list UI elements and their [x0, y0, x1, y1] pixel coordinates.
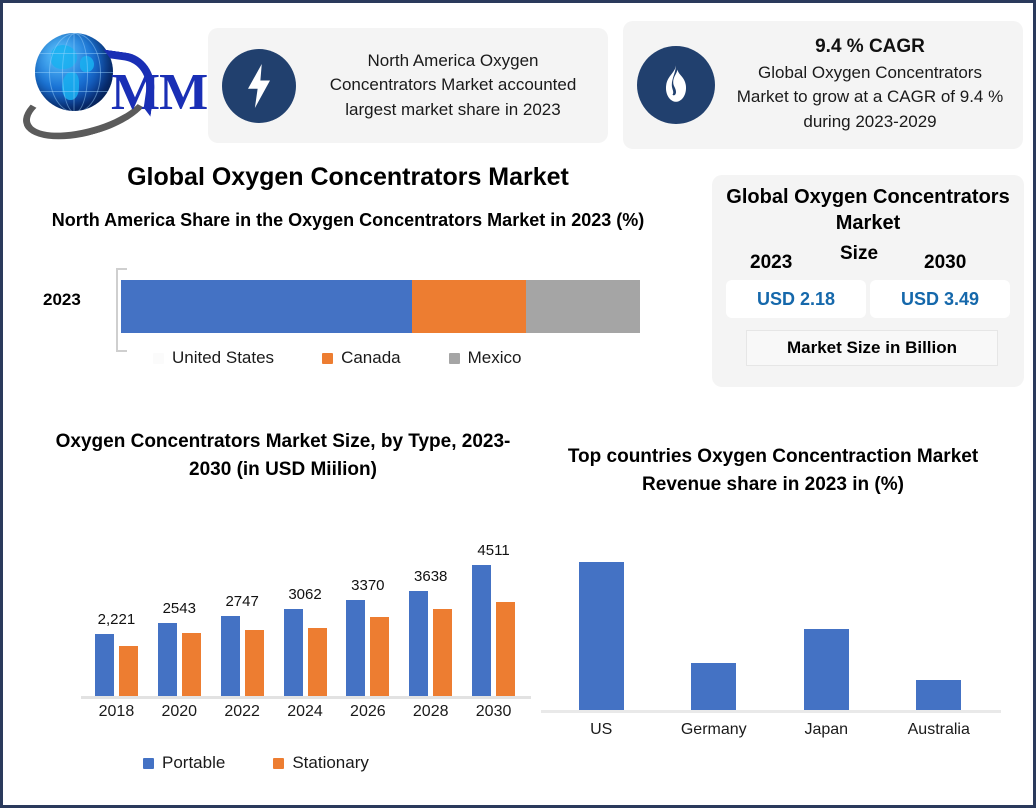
bar-portable — [409, 591, 428, 698]
bar-stationary — [308, 628, 327, 698]
bar-group: 2,221 — [88, 634, 144, 698]
bar-stationary — [182, 633, 201, 698]
bar-germany — [691, 663, 736, 710]
stacked-segment-united-states — [121, 280, 412, 333]
bar-data-label: 2,221 — [88, 611, 144, 628]
stacked-bar — [121, 280, 640, 333]
legend-swatch-portable — [143, 758, 154, 769]
chart-title: Top countries Oxygen Concentraction Mark… — [553, 443, 993, 498]
bar-stationary — [433, 609, 452, 698]
x-axis-tick: 2030 — [459, 703, 529, 721]
legend-swatch-mexico — [449, 353, 460, 364]
x-axis-tick: 2018 — [81, 703, 151, 721]
legend-item-canada: Canada — [322, 348, 401, 368]
header-card-text: Global Oxygen Concentrators Market to gr… — [731, 61, 1009, 133]
chart-legend: United States Canada Mexico — [153, 348, 653, 368]
stacked-segment-mexico — [526, 280, 640, 333]
header-card-north-america: North America Oxygen Concentrators Marke… — [208, 28, 608, 143]
header-card-text: North America Oxygen Concentrators Marke… — [312, 49, 594, 121]
flame-icon — [637, 46, 715, 124]
market-size-heading: Global Oxygen Concentrators Market — [722, 185, 1014, 236]
infographic-page: MMR North America Oxygen Concentrators M… — [0, 0, 1036, 808]
legend-label: Canada — [341, 348, 401, 368]
bar-stationary — [119, 646, 138, 698]
bar-portable — [221, 616, 240, 698]
market-size-word: Size — [840, 243, 878, 265]
x-axis-tick: Australia — [879, 721, 999, 739]
bar-group — [884, 680, 994, 710]
x-axis-tick: 2026 — [333, 703, 403, 721]
bar-australia — [916, 680, 961, 710]
mmr-logo: MMR — [13, 25, 208, 130]
bar-data-label: 3638 — [403, 568, 459, 585]
bar-data-label: 2747 — [214, 593, 270, 610]
legend-item-mexico: Mexico — [449, 348, 522, 368]
bar-group — [771, 629, 881, 710]
legend-item-united-states: United States — [153, 348, 274, 368]
stacked-segment-canada — [412, 280, 526, 333]
bar-portable — [284, 609, 303, 698]
header: MMR North America Oxygen Concentrators M… — [3, 3, 1033, 151]
header-card-cagr: 9.4 % CAGR Global Oxygen Concentrators M… — [623, 21, 1023, 149]
legend-swatch-canada — [322, 353, 333, 364]
bar-group: 2543 — [151, 623, 207, 698]
legend-label: Portable — [162, 753, 225, 773]
legend-swatch-stationary — [273, 758, 284, 769]
north-america-share-chart: North America Share in the Oxygen Concen… — [3, 208, 693, 383]
market-size-unit: Market Size in Billion — [746, 330, 998, 366]
x-axis-tick: 2024 — [270, 703, 340, 721]
bar-portable — [95, 634, 114, 698]
market-size-value-2030: USD 3.49 — [870, 280, 1010, 318]
bar-data-label: 4511 — [466, 542, 522, 559]
bar-portable — [158, 623, 177, 698]
bar-stationary — [245, 630, 264, 698]
x-axis-tick: 2020 — [144, 703, 214, 721]
chart-title: Oxygen Concentrators Market Size, by Typ… — [53, 428, 513, 483]
cagr-value: 9.4 % CAGR — [731, 36, 1009, 58]
bar-stationary — [496, 602, 515, 698]
market-size-year-2030: 2030 — [924, 252, 966, 274]
legend-label: Mexico — [468, 348, 522, 368]
top-countries-revenue-chart: Top countries Oxygen Concentraction Mark… — [523, 443, 1023, 763]
bar-data-label: 2543 — [151, 600, 207, 617]
plot-area — [545, 548, 995, 710]
market-size-value-2023: USD 2.18 — [726, 280, 866, 318]
x-axis-tick: 2022 — [207, 703, 277, 721]
header-card-body: 9.4 % CAGR Global Oxygen Concentrators M… — [715, 36, 1023, 133]
bar-portable — [472, 565, 491, 698]
header-card-body: North America Oxygen Concentrators Marke… — [296, 49, 608, 121]
chart-legend: Portable Stationary — [143, 753, 417, 773]
legend-swatch-united-states — [153, 353, 164, 364]
lightning-bolt-icon — [222, 49, 296, 123]
bar-data-label: 3062 — [277, 586, 333, 603]
bar-data-label: 3370 — [340, 577, 396, 594]
bar-group: 2747 — [214, 616, 270, 698]
bar-group: 3638 — [403, 591, 459, 698]
market-size-card: Global Oxygen Concentrators Market 2023 … — [712, 175, 1024, 387]
legend-item-portable: Portable — [143, 753, 225, 773]
legend-label: Stationary — [292, 753, 369, 773]
chart-title: North America Share in the Oxygen Concen… — [48, 208, 648, 232]
bar-japan — [804, 629, 849, 710]
x-axis-line — [541, 710, 1001, 713]
bar-group — [546, 562, 656, 711]
x-axis-line — [81, 696, 531, 699]
market-size-year-2023: 2023 — [750, 252, 792, 274]
legend-label: United States — [172, 348, 274, 368]
bar-group: 4511 — [466, 565, 522, 698]
plot-area: 2,221254327473062337036384511 — [85, 558, 525, 698]
legend-item-stationary: Stationary — [273, 753, 369, 773]
bar-stationary — [370, 617, 389, 698]
page-title: Global Oxygen Concentrators Market — [3, 163, 693, 192]
x-axis-tick: Japan — [766, 721, 886, 739]
bar-group — [659, 663, 769, 710]
bar-group: 3062 — [277, 609, 333, 698]
bar-portable — [346, 600, 365, 698]
market-size-by-type-chart: Oxygen Concentrators Market Size, by Typ… — [33, 428, 533, 788]
bar-us — [579, 562, 624, 711]
x-axis-tick: Germany — [654, 721, 774, 739]
y-axis-tick-2023: 2023 — [43, 290, 81, 310]
x-axis-tick: 2028 — [396, 703, 466, 721]
bar-group: 3370 — [340, 600, 396, 698]
x-axis-tick: US — [541, 721, 661, 739]
